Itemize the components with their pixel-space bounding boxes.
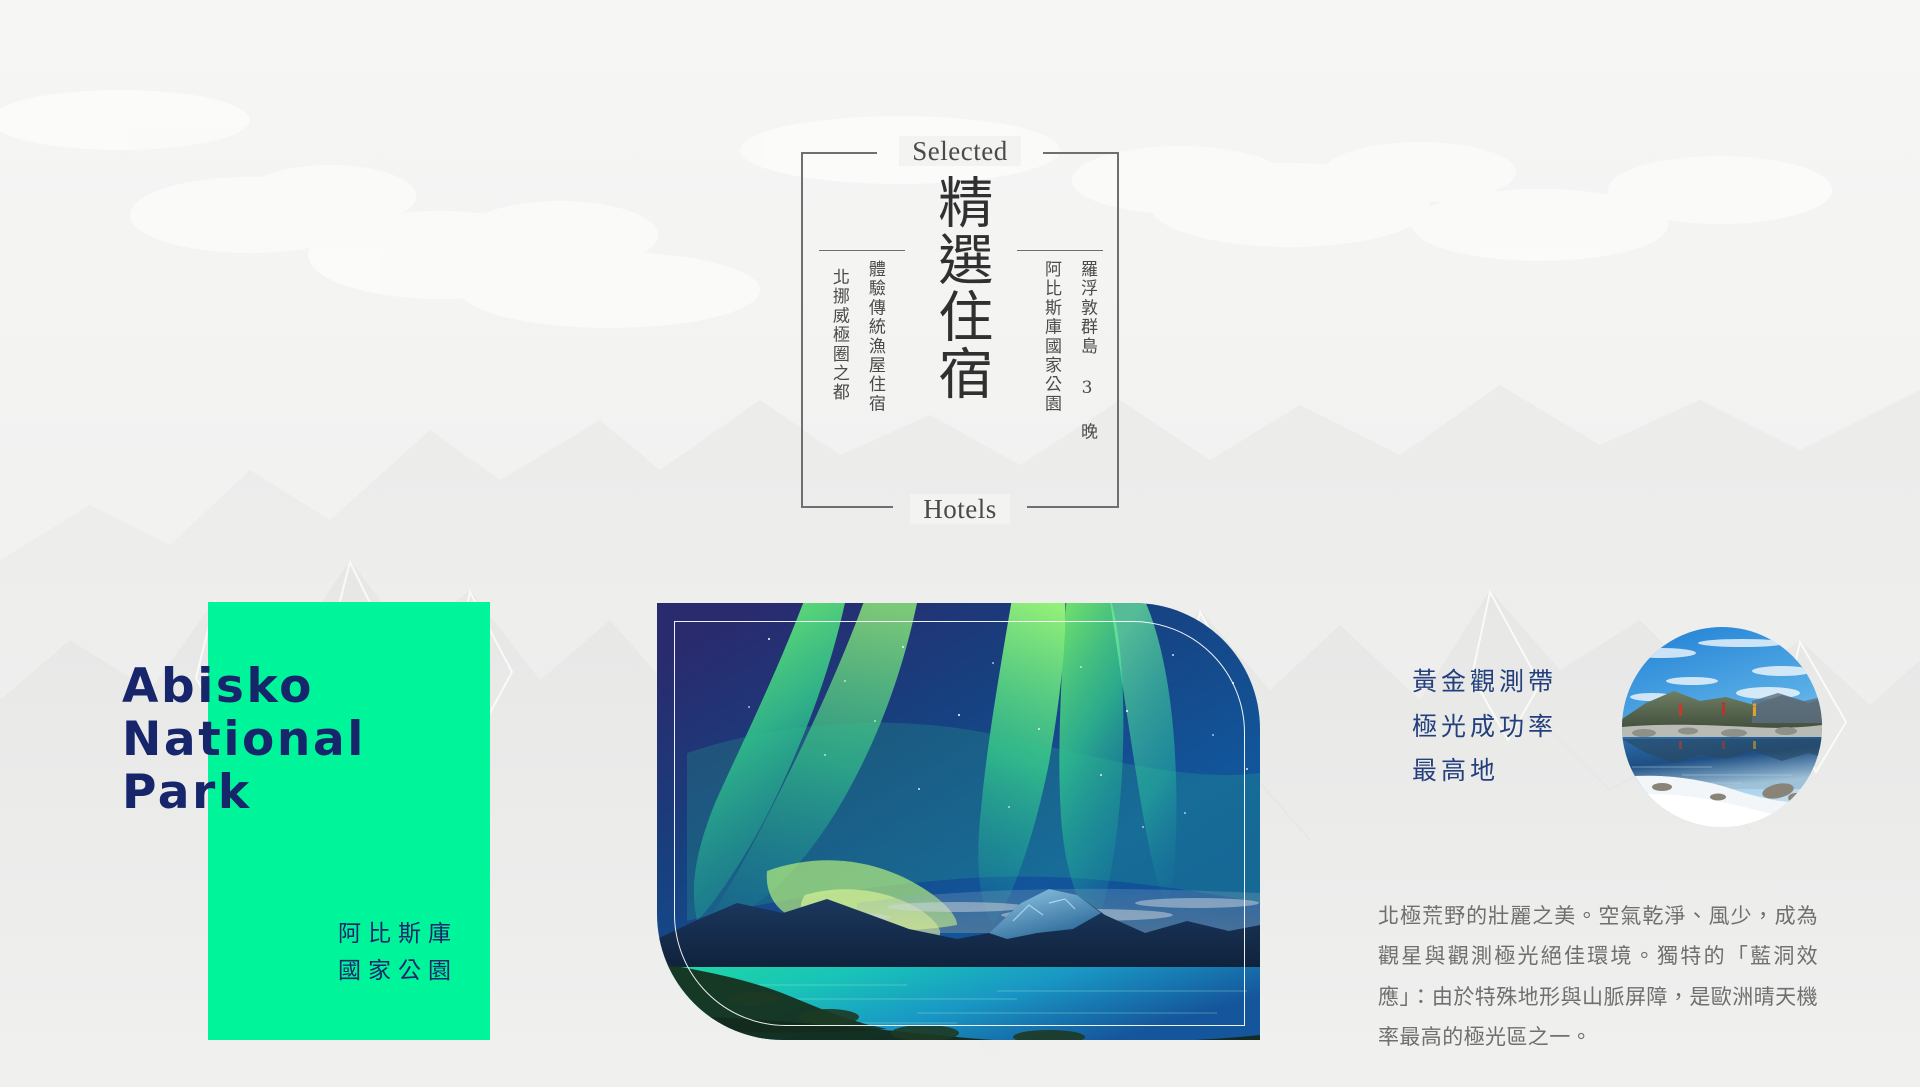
circle-photo (1622, 627, 1822, 827)
badge-caption-bottom-text: Hotels (910, 494, 1010, 524)
page-title: Abisko National Park (122, 660, 366, 819)
badge-caption-bottom: Hotels (801, 496, 1119, 523)
description-paragraph: 北極荒野的壯麗之美。空氣乾淨、風少，成為觀星與觀測極光絕佳環境。獨特的「藍洞效應… (1378, 896, 1818, 1057)
badge-border-right (1117, 152, 1119, 508)
badge-headline: 精選住宿 (929, 174, 991, 402)
aurora-photo (657, 603, 1260, 1040)
badge-column-right-outer: 羅浮敦群島 3 晚 (1073, 260, 1099, 442)
badge-column-left-inner: 體驗傳統漁屋住宿 (861, 260, 887, 414)
badge-rule-left (819, 250, 905, 251)
badge-column-left-outer: 北挪威極圈之都 (825, 268, 851, 402)
badge-border-left (801, 152, 803, 508)
badge-column-right-inner: 阿比斯庫國家公園 (1037, 260, 1063, 414)
badge-caption-top: Selected (801, 138, 1119, 165)
selected-hotels-badge: Selected Hotels 精選住宿 北挪威極圈之都 體驗傳統漁屋住宿 阿比… (801, 152, 1119, 508)
badge-caption-top-text: Selected (899, 136, 1020, 166)
badge-rule-right (1017, 250, 1103, 251)
page-title-chinese: 阿比斯庫 國家公園 (208, 916, 490, 991)
right-headline: 黃金觀測帶 極光成功率 最高地 (1412, 660, 1557, 794)
